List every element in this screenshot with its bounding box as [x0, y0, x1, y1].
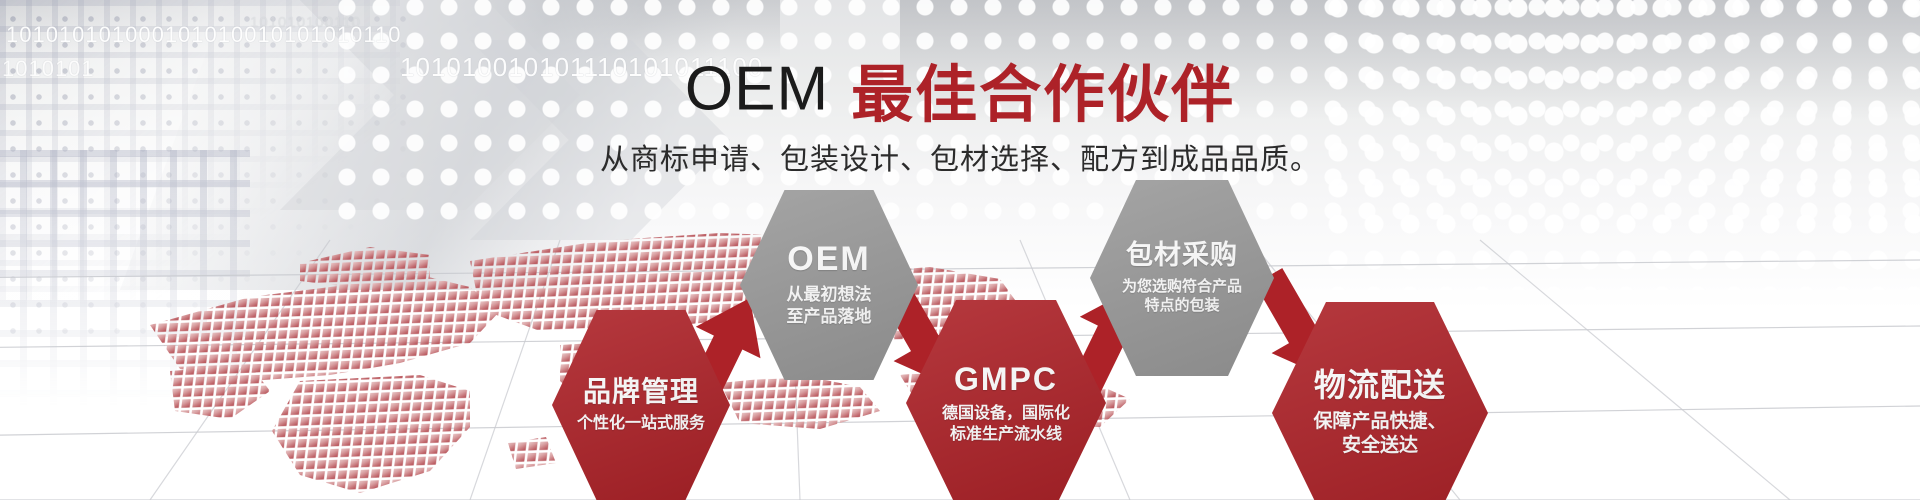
step-desc-line: 个性化一站式服务 [577, 413, 705, 433]
step-title: 物流配送 [1314, 369, 1446, 403]
step-title: GMPC [954, 363, 1058, 397]
step-desc-line: 安全送达 [1342, 434, 1418, 457]
headline-latin: OEM [685, 55, 829, 124]
step-desc-line: 为您选购符合产品 [1122, 277, 1242, 295]
step-title: 包材采购 [1126, 242, 1238, 270]
headline-chinese: 最佳合作伙伴 [851, 58, 1235, 131]
step-desc-line: 从最初想法 [787, 285, 872, 306]
step-title: OEM [787, 242, 870, 278]
step-desc-line: 德国设备，国际化 [942, 403, 1070, 423]
page-title: OEM最佳合作伙伴 [0, 44, 1920, 134]
step-title: 品牌管理 [583, 377, 699, 406]
step-desc-line: 标准生产流水线 [950, 424, 1062, 444]
step-desc-line: 至产品落地 [787, 307, 872, 328]
step-desc-line: 特点的包装 [1144, 296, 1219, 314]
binary-text-4: 101010100110 [250, 14, 361, 31]
page-subtitle: 从商标申请、包装设计、包材选择、配方到成品品质。 [0, 136, 1920, 178]
oem-partner-banner: 101010100110 101010101000101010010101010… [0, 0, 1920, 500]
step-desc-line: 保障产品快捷、 [1313, 410, 1446, 433]
